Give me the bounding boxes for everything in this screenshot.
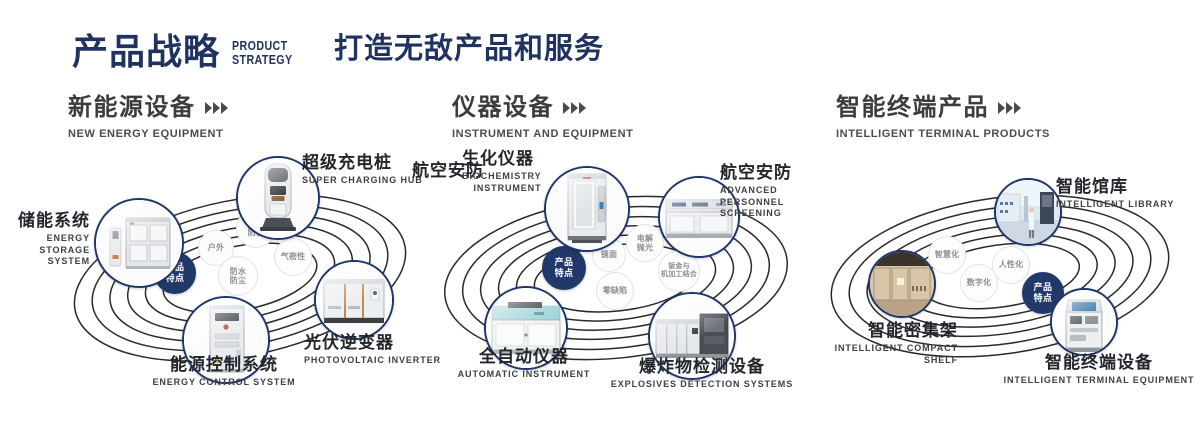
biochemistry-scanner-icon bbox=[546, 168, 628, 250]
label-intelligent-compact-shelf: 智能密集架 INTELLIGENT COMPACT SHELF bbox=[798, 322, 958, 366]
chevron-right-icon bbox=[998, 102, 1021, 114]
feature-label: 气密性 bbox=[281, 252, 306, 261]
node-label-en: ENERGY STORAGE SYSTEM bbox=[0, 233, 90, 268]
cluster-new-energy: 产品 特点 户外 防腐 防锈 防水 防尘 气密性 bbox=[50, 150, 430, 400]
node-label-cn: 生化仪器 bbox=[462, 150, 541, 168]
chevron-right-icon bbox=[205, 102, 228, 114]
feature-label: 钣金与 机加工结合 bbox=[661, 263, 697, 280]
feature-label: 零缺陷 bbox=[603, 286, 628, 295]
section-title-cn: 仪器设备 bbox=[452, 96, 554, 120]
node-photovoltaic-inverter[interactable] bbox=[314, 260, 394, 340]
page-header: 产品战略 PRODUCT STRATEGY bbox=[72, 24, 306, 80]
node-label-cn: 航空安防 bbox=[720, 164, 810, 182]
feature-label: 智慧化 bbox=[935, 250, 960, 259]
cluster-instrument: 产品 特点 镜面 电解 抛光 零缺陷 钣金与 机加工结合 航空安防 bbox=[420, 150, 810, 400]
page-slogan: 打造无敌产品和服务 bbox=[334, 35, 604, 64]
node-intelligent-library[interactable] bbox=[994, 178, 1062, 246]
feature-bubble-airtight: 气密性 bbox=[274, 238, 312, 276]
node-label-cn: 智能密集架 bbox=[798, 322, 958, 340]
compact-shelf-icon bbox=[870, 252, 934, 316]
feature-bubble-humanized: 人性化 bbox=[992, 246, 1030, 284]
page-title: 产品战略 bbox=[72, 34, 220, 70]
pv-inverter-cabinet-icon bbox=[316, 262, 392, 338]
node-label-cn: 储能系统 bbox=[0, 212, 90, 230]
label-intelligent-library: 智能馆库 INTELLIGENT LIBRARY bbox=[1056, 178, 1174, 211]
label-intelligent-terminal-equipment: 智能终端设备 INTELLIGENT TERMINAL EQUIPMENT bbox=[998, 354, 1200, 387]
node-label-en: INTELLIGENT TERMINAL EQUIPMENT bbox=[998, 375, 1200, 387]
feature-label: 数字化 bbox=[967, 278, 992, 287]
page-title-english-line1: PRODUCT bbox=[232, 39, 293, 53]
page-title-english: PRODUCT STRATEGY bbox=[232, 39, 293, 66]
label-super-charging-hub: 超级充电桩 SUPER CHARGING HUB bbox=[302, 154, 423, 187]
node-label-en: BIOCHEMISTRY INSTRUMENT bbox=[462, 171, 541, 194]
node-label-cn: 能源控制系统 bbox=[96, 356, 352, 374]
node-label-cn: 智能馆库 bbox=[1056, 178, 1174, 196]
node-label-cn: 智能终端设备 bbox=[998, 354, 1200, 372]
node-label-cn: 爆炸物检测设备 bbox=[592, 358, 812, 376]
label-energy-control-system: 能源控制系统 ENERGY CONTROL SYSTEM bbox=[96, 356, 352, 389]
section-title-en: NEW ENERGY EQUIPMENT bbox=[68, 128, 228, 140]
library-interior-icon bbox=[996, 180, 1060, 244]
feature-label: 防水 防尘 bbox=[230, 267, 246, 286]
self-service-kiosk-icon bbox=[1052, 290, 1116, 354]
node-intelligent-compact-shelf[interactable] bbox=[868, 250, 936, 318]
section-title-intelligent-terminal: 智能终端产品 INTELLIGENT TERMINAL PRODUCTS bbox=[836, 96, 1050, 140]
section-title-new-energy: 新能源设备 NEW ENERGY EQUIPMENT bbox=[68, 96, 228, 140]
feature-label: 人性化 bbox=[999, 260, 1024, 269]
section-title-instrument: 仪器设备 INSTRUMENT AND EQUIPMENT bbox=[452, 96, 633, 140]
node-label-en: INTELLIGENT LIBRARY bbox=[1056, 199, 1174, 211]
node-biochemistry-instrument[interactable] bbox=[544, 166, 630, 252]
feature-bubble-waterproof: 防水 防尘 bbox=[218, 256, 258, 296]
core-feature-label: 产品 特点 bbox=[1034, 282, 1053, 303]
feature-bubble-zero-defect: 零缺陷 bbox=[596, 272, 634, 310]
feature-label: 户外 bbox=[208, 243, 224, 252]
label-energy-storage-system: 储能系统 ENERGY STORAGE SYSTEM bbox=[0, 212, 90, 268]
cluster-intelligent-terminal: 智慧化 数字化 人性化 产品 特点 bbox=[810, 150, 1200, 400]
node-energy-storage-system[interactable] bbox=[94, 198, 184, 288]
node-label-cn: 超级充电桩 bbox=[302, 154, 423, 172]
feature-label: 镜面 bbox=[601, 250, 617, 259]
label-explosives-detection-systems: 爆炸物检测设备 EXPLOSIVES DETECTION SYSTEMS bbox=[592, 358, 812, 391]
node-intelligent-terminal-equipment[interactable] bbox=[1050, 288, 1118, 356]
feature-bubble-electropolishing: 电解 抛光 bbox=[626, 224, 664, 262]
section-title-en: INTELLIGENT TERMINAL PRODUCTS bbox=[836, 128, 1050, 140]
core-feature-label: 产品 特点 bbox=[555, 257, 574, 278]
feature-label: 电解 抛光 bbox=[637, 234, 653, 253]
node-label-en: EXPLOSIVES DETECTION SYSTEMS bbox=[592, 379, 812, 391]
node-label-en: SUPER CHARGING HUB bbox=[302, 175, 423, 187]
page-title-english-line2: STRATEGY bbox=[232, 53, 293, 67]
section-title-en: INSTRUMENT AND EQUIPMENT bbox=[452, 128, 633, 140]
label-biochemistry-instrument: 生化仪器 BIOCHEMISTRY INSTRUMENT bbox=[462, 150, 541, 194]
core-feature-badge: 产品 特点 bbox=[542, 246, 586, 290]
node-label-en: INTELLIGENT COMPACT SHELF bbox=[798, 343, 958, 366]
node-label-en: ENERGY CONTROL SYSTEM bbox=[96, 377, 352, 389]
node-label-en: ADVANCED PERSONNEL SCREENING bbox=[720, 185, 810, 220]
label-advanced-personnel-screening: 航空安防 ADVANCED PERSONNEL SCREENING bbox=[720, 164, 810, 220]
section-title-cn: 智能终端产品 bbox=[836, 96, 989, 120]
product-strategy-infographic: 产品战略 PRODUCT STRATEGY 打造无敌产品和服务 新能源设备 NE… bbox=[0, 0, 1200, 422]
energy-storage-cabinet-icon bbox=[96, 200, 182, 286]
section-title-cn: 新能源设备 bbox=[68, 96, 196, 120]
chevron-right-icon bbox=[563, 102, 586, 114]
